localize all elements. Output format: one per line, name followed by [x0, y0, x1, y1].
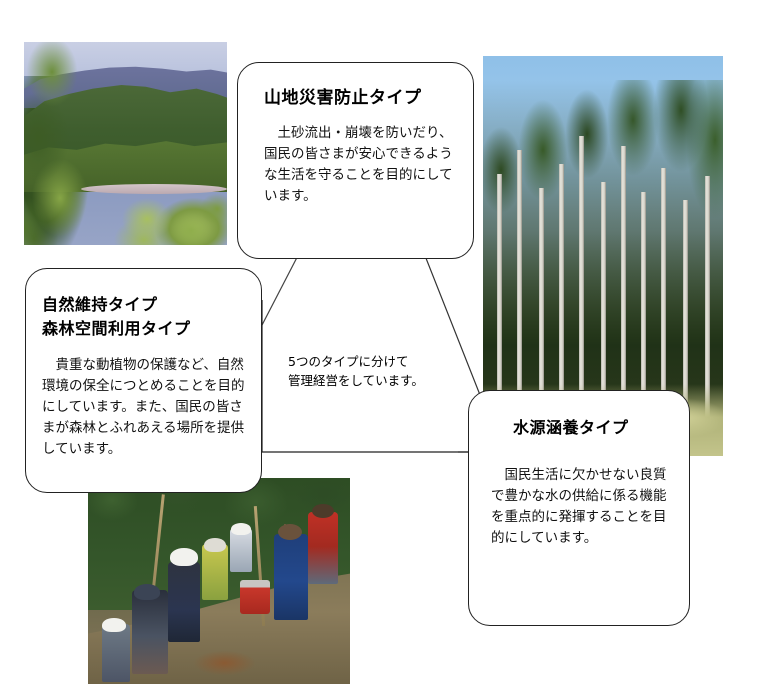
volunteer-figure	[274, 534, 308, 620]
callout-title-line2: 森林空間利用タイプ	[42, 317, 247, 341]
callout-body: 土砂流出・崩壊を防いだり、国民の皆さまが安心できるような生活を守ることを目的にし…	[264, 123, 455, 207]
center-caption-line1: 5つのタイプに分けて	[288, 352, 468, 371]
helmet-icon	[102, 618, 126, 632]
head-icon	[278, 524, 302, 540]
helmet-icon	[170, 548, 198, 566]
volunteer-figure	[168, 562, 200, 642]
callout-shizen-iji[interactable]: 自然維持タイプ 森林空間利用タイプ 貴重な動植物の保護など、自然環境の保全につと…	[25, 268, 262, 493]
center-caption-line2: 管理経営をしています。	[288, 371, 468, 390]
tree-planting-photo	[88, 478, 350, 684]
callout-suigen-kanyou[interactable]: 水源涵養タイプ 国民生活に欠かせない良質で豊かな水の供給に係る機能を重点的に発揮…	[468, 390, 690, 626]
center-caption: 5つのタイプに分けて 管理経営をしています。	[288, 352, 468, 390]
volunteer-figure	[132, 590, 168, 674]
foreground-tree-layer	[24, 42, 104, 245]
diagram-canvas: 5つのタイプに分けて 管理経営をしています。 山地災害防止タイプ 土砂流出・崩壊…	[0, 0, 768, 699]
soil-patch-layer	[188, 648, 261, 678]
callout-title: 山地災害防止タイプ	[264, 87, 455, 109]
callout-title: 水源涵養タイプ	[491, 417, 673, 439]
volunteer-figure	[308, 512, 338, 584]
callout-body: 国民生活に欠かせない良質で豊かな水の供給に係る機能を重点的に発揮することを目的に…	[491, 465, 673, 549]
callout-body: 貴重な動植物の保護など、自然環境の保全につとめることを目的にしています。また、国…	[42, 355, 247, 460]
callout-title-line1: 自然維持タイプ	[42, 293, 247, 317]
cap-icon	[134, 584, 160, 600]
callout-sanchi-saigai-boushi[interactable]: 山地災害防止タイプ 土砂流出・崩壊を防いだり、国民の皆さまが安心できるような生活…	[237, 62, 474, 259]
volunteer-figure	[102, 624, 130, 682]
volunteer-figure	[202, 544, 228, 600]
red-drum-icon	[240, 580, 270, 614]
helmet-icon	[204, 538, 226, 552]
head-icon	[312, 504, 334, 518]
helmet-icon	[231, 523, 251, 535]
forest-lake-photo	[24, 42, 227, 245]
foreground-bush-layer	[117, 189, 227, 245]
